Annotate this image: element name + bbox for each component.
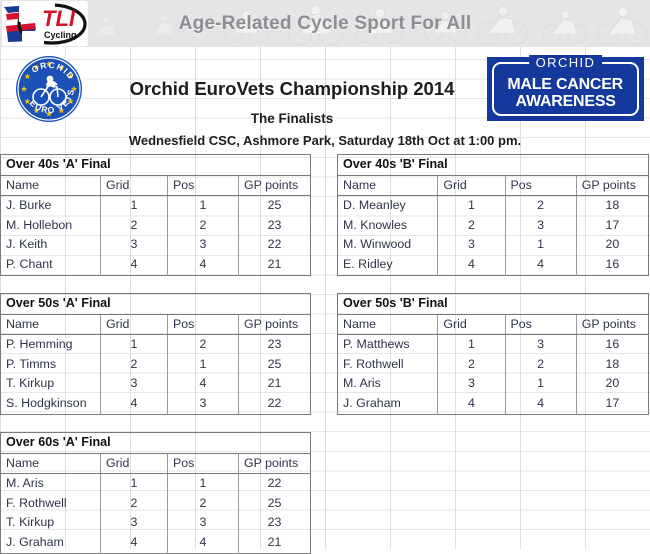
column-header-gp-points: GP points [239,314,311,335]
table-title-row: Over 40s 'A' Final [1,155,311,176]
table-title: Over 40s 'A' Final [1,155,311,176]
table-title-row: Over 50s 'B' Final [338,294,649,315]
male-cancer-line: MALE CANCER [508,76,624,93]
rider-gp-points: 21 [239,255,311,275]
rider-grid: 1 [438,335,505,355]
rider-gp-points: 25 [239,355,311,375]
column-header-name: Name [1,453,101,474]
results-table-over-50s-b: Over 50s 'B' FinalNameGridPosGP pointsP.… [337,293,649,415]
rider-gp-points: 23 [239,335,311,355]
column-header-grid: Grid [438,314,505,335]
rider-grid: 3 [438,374,505,394]
rider-pos: 1 [505,235,576,255]
rider-name: P. Hemming [1,335,101,355]
rider-name: J. Graham [338,394,438,414]
table-header-row: NameGridPosGP points [338,175,649,196]
rider-name: M. Knowles [338,216,438,236]
column-header-pos: Pos [168,175,239,196]
table-row: T. Kirkup3421 [1,374,311,394]
rider-grid: 3 [438,235,505,255]
column-header-gp-points: GP points [576,314,648,335]
rider-gp-points: 18 [576,196,648,216]
rider-gp-points: 22 [239,474,311,494]
page-subtitle: The Finalists [98,108,486,128]
rider-grid: 1 [101,335,168,355]
table-row: P. Timms2125 [1,355,311,375]
rider-grid: 3 [101,235,168,255]
table-row: T. Kirkup3323 [1,513,311,533]
banner-tagline: Age-Related Cycle Sport For All [0,0,650,47]
rider-grid: 2 [101,355,168,375]
rider-pos: 1 [168,474,239,494]
table-header-row: NameGridPosGP points [1,453,311,474]
page-title: Orchid EuroVets Championship 2014 [98,76,486,101]
rider-pos: 3 [168,235,239,255]
results-table-over-40s-b: Over 40s 'B' FinalNameGridPosGP pointsD.… [337,154,649,276]
rider-name: P. Timms [1,355,101,375]
column-header-name: Name [338,175,438,196]
rider-name: M. Winwood [338,235,438,255]
table-header-row: NameGridPosGP points [1,314,311,335]
rider-pos: 2 [168,335,239,355]
rider-pos: 4 [505,255,576,275]
table-title-row: Over 50s 'A' Final [1,294,311,315]
rider-grid: 4 [101,533,168,553]
rider-name: J. Burke [1,196,101,216]
rider-pos: 3 [168,513,239,533]
rider-grid: 2 [438,216,505,236]
rider-name: E. Ridley [338,255,438,275]
column-header-grid: Grid [438,175,505,196]
rider-name: T. Kirkup [1,513,101,533]
rider-grid: 1 [101,474,168,494]
rider-pos: 1 [505,374,576,394]
rider-name: J. Graham [1,533,101,553]
rider-grid: 4 [101,255,168,275]
rider-pos: 2 [168,216,239,236]
rider-gp-points: 16 [576,255,648,275]
rider-gp-points: 25 [239,494,311,514]
table-row: S. Hodgkinson4322 [1,394,311,414]
rider-name: D. Meanley [338,196,438,216]
column-header-gp-points: GP points [576,175,648,196]
table-row: M. Winwood3120 [338,235,649,255]
rider-grid: 2 [438,355,505,375]
svg-text:TLI: TLI [42,6,76,31]
rider-gp-points: 22 [239,394,311,414]
rider-gp-points: 23 [239,513,311,533]
table-row: D. Meanley1218 [338,196,649,216]
rider-pos: 4 [168,255,239,275]
table-row: P. Hemming1223 [1,335,311,355]
rider-gp-points: 17 [576,216,648,236]
table-title: Over 60s 'A' Final [1,433,311,454]
table-row: J. Burke1125 [1,196,311,216]
rider-grid: 4 [101,394,168,414]
rider-name: S. Hodgkinson [1,394,101,414]
rider-name: J. Keith [1,235,101,255]
rider-pos: 3 [505,216,576,236]
rider-gp-points: 20 [576,374,648,394]
results-table-over-50s-a: Over 50s 'A' FinalNameGridPosGP pointsP.… [0,293,311,415]
column-header-pos: Pos [168,453,239,474]
rider-gp-points: 16 [576,335,648,355]
rider-gp-points: 23 [239,216,311,236]
column-header-grid: Grid [101,314,168,335]
table-row: M. Knowles2317 [338,216,649,236]
column-header-pos: Pos [505,175,576,196]
table-row: P. Chant4421 [1,255,311,275]
rider-pos: 1 [168,196,239,216]
rider-name: M. Aris [338,374,438,394]
rider-pos: 2 [168,494,239,514]
rider-pos: 4 [168,374,239,394]
results-table-over-60s-a: Over 60s 'A' FinalNameGridPosGP pointsM.… [0,432,311,554]
table-row: P. Matthews1316 [338,335,649,355]
rider-pos: 1 [168,355,239,375]
table-row: F. Rothwell2218 [338,355,649,375]
rider-grid: 3 [101,374,168,394]
orchid-eurovets-logo: ORCHID EURO VETS [13,53,85,125]
rider-name: F. Rothwell [1,494,101,514]
table-title: Over 50s 'B' Final [338,294,649,315]
rider-grid: 3 [101,513,168,533]
column-header-name: Name [1,175,101,196]
column-header-grid: Grid [101,453,168,474]
column-header-gp-points: GP points [239,453,311,474]
rider-grid: 4 [438,255,505,275]
rider-gp-points: 21 [239,374,311,394]
rider-grid: 2 [101,494,168,514]
rider-gp-points: 21 [239,533,311,553]
rider-name: P. Matthews [338,335,438,355]
rider-pos: 4 [168,533,239,553]
rider-gp-points: 25 [239,196,311,216]
awareness-line: AWARENESS [515,93,615,110]
column-header-gp-points: GP points [239,175,311,196]
rider-name: M. Aris [1,474,101,494]
table-header-row: NameGridPosGP points [1,175,311,196]
table-title: Over 50s 'A' Final [1,294,311,315]
rider-pos: 3 [505,335,576,355]
table-row: J. Graham4421 [1,533,311,553]
table-title: Over 40s 'B' Final [338,155,649,176]
column-header-name: Name [338,314,438,335]
column-header-name: Name [1,314,101,335]
rider-grid: 2 [101,216,168,236]
rider-grid: 1 [438,196,505,216]
rider-gp-points: 18 [576,355,648,375]
table-row: E. Ridley4416 [338,255,649,275]
results-table-over-40s-a: Over 40s 'A' FinalNameGridPosGP pointsJ.… [0,154,311,276]
rider-pos: 2 [505,355,576,375]
rider-pos: 2 [505,196,576,216]
table-title-row: Over 40s 'B' Final [338,155,649,176]
table-row: M. Aris1122 [1,474,311,494]
rider-pos: 3 [168,394,239,414]
table-row: M. Hollebon2223 [1,216,311,236]
table-row: J. Graham4417 [338,394,649,414]
table-row: J. Keith3322 [1,235,311,255]
rider-grid: 4 [438,394,505,414]
rider-gp-points: 17 [576,394,648,414]
venue-and-time: Wednesfield CSC, Ashmore Park, Saturday … [0,131,650,150]
rider-name: T. Kirkup [1,374,101,394]
rider-gp-points: 22 [239,235,311,255]
column-header-pos: Pos [505,314,576,335]
rider-name: F. Rothwell [338,355,438,375]
tli-cycling-logo: TLI Cycling [2,1,88,46]
orchid-male-cancer-awareness-logo: ORCHID MALE CANCER AWARENESS [487,57,644,121]
rider-gp-points: 20 [576,235,648,255]
rider-pos: 4 [505,394,576,414]
rider-name: M. Hollebon [1,216,101,236]
table-row: F. Rothwell2225 [1,494,311,514]
svg-text:Cycling: Cycling [44,30,77,40]
table-title-row: Over 60s 'A' Final [1,433,311,454]
header-banner: Age-Related Cycle Sport For All [0,0,650,47]
rider-grid: 1 [101,196,168,216]
column-header-pos: Pos [168,314,239,335]
table-header-row: NameGridPosGP points [338,314,649,335]
orchid-word: ORCHID [529,55,603,71]
table-row: M. Aris3120 [338,374,649,394]
column-header-grid: Grid [101,175,168,196]
rider-name: P. Chant [1,255,101,275]
